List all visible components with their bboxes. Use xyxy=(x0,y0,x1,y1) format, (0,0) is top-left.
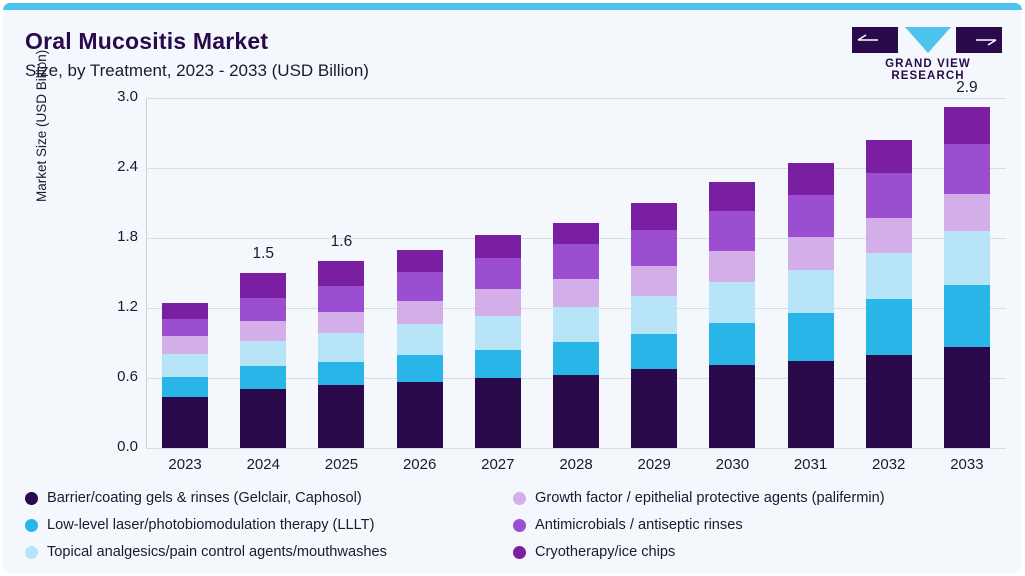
bar-segment[interactable] xyxy=(397,250,443,272)
bar-segment[interactable] xyxy=(318,362,364,385)
bar-segment[interactable] xyxy=(709,182,755,211)
bar-segment[interactable] xyxy=(944,194,990,231)
chart-plot-area: 0.00.61.21.82.43.0 Market Size (USD Bill… xyxy=(146,98,1006,448)
bar-segment[interactable] xyxy=(162,303,208,318)
bar-group[interactable] xyxy=(709,182,755,448)
legend-label: Low-level laser/photobiomodulation thera… xyxy=(47,517,374,533)
legend-color-swatch-icon xyxy=(513,546,526,559)
legend-label: Growth factor / epithelial protective ag… xyxy=(535,490,885,506)
bar-segment[interactable] xyxy=(631,334,677,369)
y-tick-label: 1.2 xyxy=(94,298,138,315)
bar-segment[interactable] xyxy=(240,341,286,367)
bar-segment[interactable] xyxy=(475,289,521,316)
bar-segment[interactable] xyxy=(162,336,208,354)
legend-color-swatch-icon xyxy=(513,519,526,532)
legend-item[interactable]: Cryotherapy/ice chips xyxy=(513,541,675,563)
bar-group[interactable] xyxy=(944,107,990,448)
bar-segment[interactable] xyxy=(866,140,912,173)
bar-segment[interactable] xyxy=(397,272,443,301)
bar-group[interactable] xyxy=(631,203,677,448)
bar-segment[interactable] xyxy=(631,296,677,333)
page-subtitle: Size, by Treatment, 2023 - 2033 (USD Bil… xyxy=(25,61,369,81)
legend-label: Barrier/coating gels & rinses (Gelclair,… xyxy=(47,490,362,506)
bar-segment[interactable] xyxy=(866,355,912,448)
bar-segment[interactable] xyxy=(162,377,208,397)
bar-segment[interactable] xyxy=(709,365,755,448)
legend-color-swatch-icon xyxy=(25,546,38,559)
bar-segment[interactable] xyxy=(397,355,443,382)
bar-segment[interactable] xyxy=(709,282,755,323)
page-title: Oral Mucositis Market xyxy=(25,28,268,55)
bar-value-label: 2.9 xyxy=(907,79,1025,97)
bar-segment[interactable] xyxy=(475,235,521,258)
bar-segment[interactable] xyxy=(397,301,443,324)
bar-group[interactable] xyxy=(866,140,912,448)
accent-top-bar xyxy=(3,3,1022,10)
logo: GRAND VIEW RESEARCH xyxy=(852,27,1004,77)
gridline xyxy=(146,448,1006,449)
bar-segment[interactable] xyxy=(318,312,364,333)
bar-segment[interactable] xyxy=(318,286,364,312)
bar-segment[interactable] xyxy=(553,223,599,244)
bar-segment[interactable] xyxy=(709,251,755,283)
bar-segment[interactable] xyxy=(553,279,599,307)
bar-segment[interactable] xyxy=(788,313,834,361)
bar-segment[interactable] xyxy=(709,323,755,365)
bar-group[interactable] xyxy=(475,235,521,449)
bar-series-container: 1.51.62.9 xyxy=(146,98,1006,448)
legend-color-swatch-icon xyxy=(25,519,38,532)
bar-group[interactable] xyxy=(788,163,834,448)
bar-segment[interactable] xyxy=(475,378,521,448)
legend-item[interactable]: Topical analgesics/pain control agents/m… xyxy=(25,541,387,563)
y-tick-label: 1.8 xyxy=(94,228,138,245)
legend-label: Topical analgesics/pain control agents/m… xyxy=(47,544,387,560)
bar-group[interactable] xyxy=(318,261,364,448)
legend-color-swatch-icon xyxy=(25,492,38,505)
bar-group[interactable] xyxy=(240,273,286,448)
bar-segment[interactable] xyxy=(162,397,208,448)
bar-segment[interactable] xyxy=(944,231,990,285)
bar-value-label: 1.6 xyxy=(281,233,401,251)
bar-group[interactable] xyxy=(553,223,599,448)
bar-segment[interactable] xyxy=(866,253,912,299)
bar-segment[interactable] xyxy=(944,144,990,194)
logo-square-right-icon xyxy=(956,27,1002,53)
y-axis-label: Market Size (USD Billion) xyxy=(34,50,49,202)
bar-segment[interactable] xyxy=(475,258,521,290)
bar-segment[interactable] xyxy=(162,319,208,337)
bar-segment[interactable] xyxy=(631,230,677,266)
legend-item[interactable]: Barrier/coating gels & rinses (Gelclair,… xyxy=(25,487,362,509)
legend-color-swatch-icon xyxy=(513,492,526,505)
legend-item[interactable]: Low-level laser/photobiomodulation thera… xyxy=(25,514,374,536)
bar-segment[interactable] xyxy=(318,385,364,448)
y-tick-label: 0.0 xyxy=(94,438,138,455)
bar-segment[interactable] xyxy=(553,342,599,375)
bar-segment[interactable] xyxy=(709,211,755,251)
x-tick-label: 2033 xyxy=(907,456,1025,473)
bar-segment[interactable] xyxy=(397,324,443,354)
bar-segment[interactable] xyxy=(162,354,208,377)
bar-segment[interactable] xyxy=(240,298,286,321)
bar-segment[interactable] xyxy=(240,389,286,449)
bar-segment[interactable] xyxy=(944,107,990,143)
bar-segment[interactable] xyxy=(240,321,286,341)
bar-segment[interactable] xyxy=(240,273,286,298)
bar-segment[interactable] xyxy=(631,203,677,230)
y-tick-label: 0.6 xyxy=(94,368,138,385)
bar-segment[interactable] xyxy=(397,382,443,449)
bar-segment[interactable] xyxy=(631,369,677,448)
chart-card: Oral Mucositis Market Size, by Treatment… xyxy=(0,0,1025,576)
legend-label: Cryotherapy/ice chips xyxy=(535,544,675,560)
bar-segment[interactable] xyxy=(788,237,834,270)
bar-segment[interactable] xyxy=(788,361,834,449)
bar-group[interactable] xyxy=(397,250,443,448)
bar-segment[interactable] xyxy=(553,244,599,279)
bar-segment[interactable] xyxy=(553,375,599,449)
logo-triangle-icon xyxy=(905,27,951,53)
bar-segment[interactable] xyxy=(788,195,834,237)
bar-segment[interactable] xyxy=(866,173,912,219)
bar-group[interactable] xyxy=(162,303,208,448)
y-tick-label: 3.0 xyxy=(94,88,138,105)
bar-segment[interactable] xyxy=(240,366,286,388)
bar-segment[interactable] xyxy=(944,347,990,449)
bar-segment[interactable] xyxy=(318,261,364,286)
legend-item[interactable]: Growth factor / epithelial protective ag… xyxy=(513,487,885,509)
bar-segment[interactable] xyxy=(944,285,990,347)
logo-square-left-icon xyxy=(852,27,898,53)
legend-label: Antimicrobials / antiseptic rinses xyxy=(535,517,743,533)
bar-segment[interactable] xyxy=(788,270,834,313)
bar-segment[interactable] xyxy=(318,333,364,362)
legend-item[interactable]: Antimicrobials / antiseptic rinses xyxy=(513,514,743,536)
bar-segment[interactable] xyxy=(475,350,521,378)
y-tick-label: 2.4 xyxy=(94,158,138,175)
bar-segment[interactable] xyxy=(788,163,834,195)
bar-segment[interactable] xyxy=(553,307,599,342)
bar-segment[interactable] xyxy=(475,316,521,350)
bar-segment[interactable] xyxy=(631,266,677,296)
bar-segment[interactable] xyxy=(866,218,912,253)
bar-segment[interactable] xyxy=(866,299,912,355)
chart-legend: Barrier/coating gels & rinses (Gelclair,… xyxy=(25,487,1015,567)
